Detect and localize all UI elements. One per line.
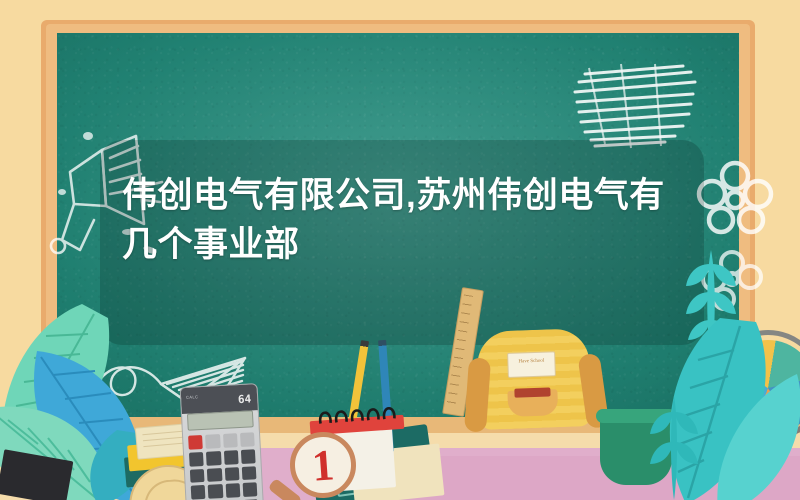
calculator-key [206, 451, 221, 466]
calculator-key [223, 433, 238, 448]
cup-rim [596, 409, 676, 423]
calculator-key [190, 469, 205, 484]
magnifier-value: 1 [293, 437, 353, 495]
backpack-strap [464, 357, 491, 432]
calculator-key [191, 485, 206, 500]
backpack-icon: Have School [476, 328, 591, 430]
calculator-key [242, 466, 257, 481]
calculator-key [208, 484, 223, 499]
calculator-display [187, 410, 254, 430]
calculator-key [240, 432, 255, 447]
magnifier-icon: 1 [288, 430, 358, 500]
calculator-key [241, 449, 256, 464]
calculator-key [242, 483, 257, 498]
green-cup-icon [600, 415, 672, 485]
calculator-brand: CALC [186, 394, 199, 400]
backpack-label: Have School [507, 351, 556, 378]
calculator-key [205, 434, 220, 449]
calculator-icon: CALC 64 [180, 383, 265, 500]
cover-image: 伟创电气有限公司,苏州伟创电气有几个事业部 [0, 0, 800, 500]
calculator-key [223, 450, 238, 465]
calculator-key [189, 452, 204, 467]
calculator-key [224, 467, 239, 482]
calculator-key [225, 484, 240, 499]
calculator-key [188, 435, 203, 450]
calculator-value: 64 [238, 392, 252, 406]
calculator-key [207, 468, 222, 483]
page-title: 伟创电气有限公司,苏州伟创电气有几个事业部 [122, 171, 692, 269]
backpack-buckle [514, 387, 550, 397]
desk-mat-right [395, 456, 800, 500]
calculator-keypad [188, 432, 258, 500]
